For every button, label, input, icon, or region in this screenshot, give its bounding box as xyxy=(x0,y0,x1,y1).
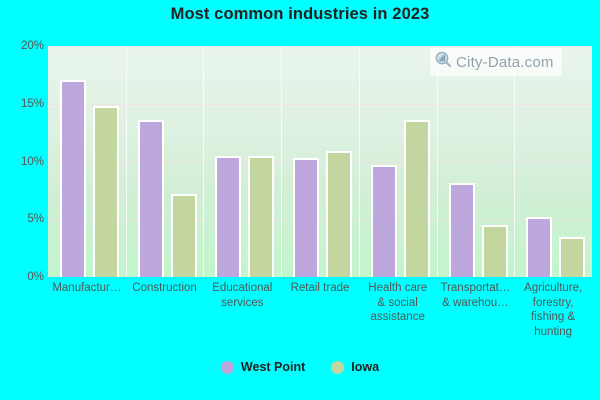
x-axis-label-line: & warehou… xyxy=(442,297,508,309)
y-axis: 0%5%10%15%20% xyxy=(0,46,44,277)
legend-item-west-point[interactable]: West Point xyxy=(221,360,305,374)
x-axis-labels: Manufactur…ConstructionEducationalservic… xyxy=(48,281,592,356)
x-axis-label-6: Agriculture,forestry,fishing &hunting xyxy=(514,281,592,339)
gridline xyxy=(48,219,592,220)
chart-legend: West PointIowa xyxy=(0,360,600,374)
chart-title: Most common industries in 2023 xyxy=(0,5,600,24)
plot-area xyxy=(48,46,592,277)
x-axis-label-5: Transportat…& warehou… xyxy=(437,281,515,310)
gridline xyxy=(48,104,592,105)
group-separator xyxy=(437,46,438,277)
legend-swatch-icon xyxy=(331,361,344,374)
legend-label: Iowa xyxy=(351,360,379,374)
group-separator xyxy=(281,46,282,277)
bar-west-point-5[interactable] xyxy=(449,183,475,277)
industries-bar-chart: Most common industries in 2023 0%5%10%15… xyxy=(0,0,600,400)
x-axis-label-2: Educationalservices xyxy=(203,281,281,310)
x-axis-label-1: Construction xyxy=(126,281,204,296)
legend-item-iowa[interactable]: Iowa xyxy=(331,360,379,374)
group-separator xyxy=(514,46,515,277)
x-axis-label-0: Manufactur… xyxy=(48,281,126,296)
x-axis-label-line: assistance xyxy=(371,311,425,323)
y-axis-tick-label: 15% xyxy=(0,98,44,110)
watermark: City-Data.com xyxy=(430,48,562,76)
bar-west-point-6[interactable] xyxy=(526,217,552,277)
x-axis-label-line: Transportat… xyxy=(440,282,510,294)
x-axis-label-line: Educational xyxy=(212,282,272,294)
x-axis-label-3: Retail trade xyxy=(281,281,359,296)
x-axis-label-line: forestry, xyxy=(533,297,574,309)
watermark-text: City-Data.com xyxy=(456,54,554,71)
y-axis-tick-label: 10% xyxy=(0,156,44,168)
x-axis-label-line: fishing & xyxy=(531,311,575,323)
group-separator xyxy=(359,46,360,277)
group-separator xyxy=(126,46,127,277)
x-axis-label-line: services xyxy=(221,297,263,309)
bar-west-point-4[interactable] xyxy=(371,165,397,277)
bar-iowa-3[interactable] xyxy=(326,151,352,277)
x-axis-label-line: & social xyxy=(378,297,418,309)
x-axis-label-line: Retail trade xyxy=(291,282,350,294)
x-axis-label-4: Health care& socialassistance xyxy=(359,281,437,325)
bar-west-point-2[interactable] xyxy=(215,156,241,277)
bar-iowa-1[interactable] xyxy=(171,194,197,277)
bar-west-point-1[interactable] xyxy=(138,120,164,277)
bar-iowa-2[interactable] xyxy=(248,156,274,277)
y-axis-tick-label: 20% xyxy=(0,40,44,52)
y-axis-tick-label: 0% xyxy=(0,271,44,283)
legend-swatch-icon xyxy=(221,361,234,374)
x-axis-label-line: Construction xyxy=(132,282,197,294)
bar-iowa-6[interactable] xyxy=(559,237,585,277)
bar-iowa-0[interactable] xyxy=(93,106,119,277)
bar-west-point-3[interactable] xyxy=(293,158,319,277)
legend-label: West Point xyxy=(241,360,305,374)
x-axis-label-line: Manufactur… xyxy=(52,282,121,294)
bar-west-point-0[interactable] xyxy=(60,80,86,278)
x-axis-label-line: Health care xyxy=(368,282,427,294)
group-separator xyxy=(203,46,204,277)
magnifier-bar-chart-icon xyxy=(435,51,452,73)
bar-iowa-5[interactable] xyxy=(482,225,508,277)
gridline xyxy=(48,46,592,47)
x-axis-label-line: hunting xyxy=(534,326,572,338)
gridline xyxy=(48,162,592,163)
bar-iowa-4[interactable] xyxy=(404,120,430,277)
x-axis-label-line: Agriculture, xyxy=(524,282,582,294)
y-axis-tick-label: 5% xyxy=(0,213,44,225)
